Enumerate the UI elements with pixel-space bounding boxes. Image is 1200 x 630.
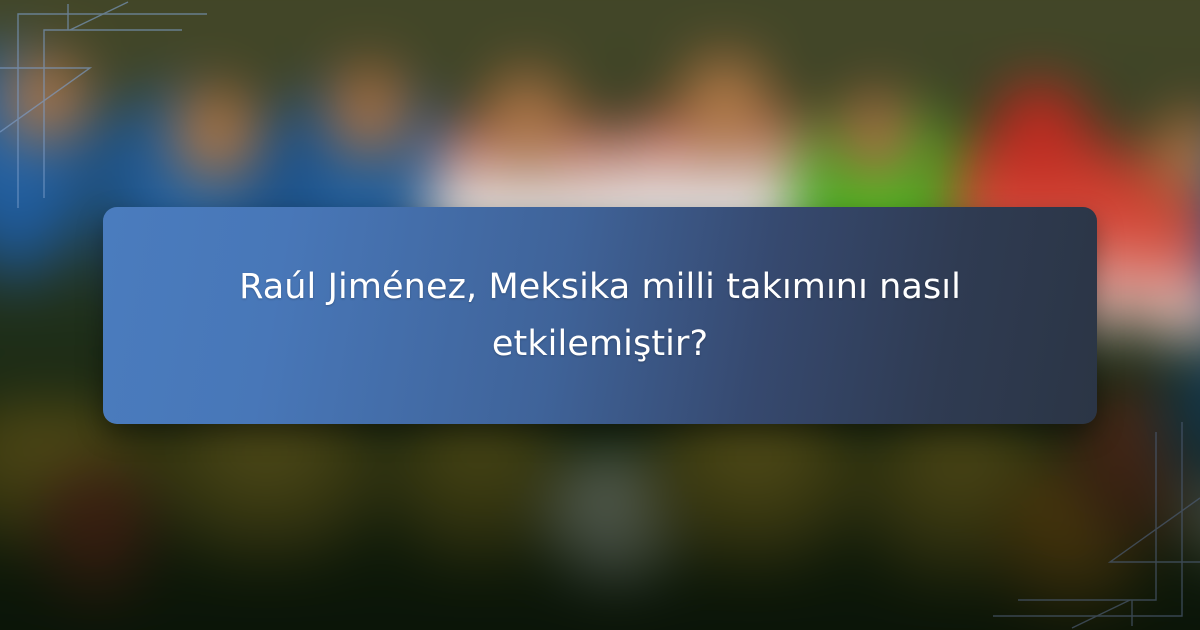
player-head-4: [481, 61, 572, 167]
player-head-6: [833, 82, 918, 182]
player-head-5: [676, 45, 774, 157]
question-text: Raúl Jiménez, Meksika milli takımını nas…: [163, 259, 1038, 372]
share-card-canvas: Raúl Jiménez, Meksika milli takımını nas…: [0, 0, 1200, 630]
player-head-3: [324, 55, 413, 159]
player-head-1: [1, 45, 90, 147]
question-card: Raúl Jiménez, Meksika milli takımını nas…: [103, 207, 1097, 424]
player-head-2: [171, 77, 262, 183]
player-cap-red: [992, 82, 1087, 167]
